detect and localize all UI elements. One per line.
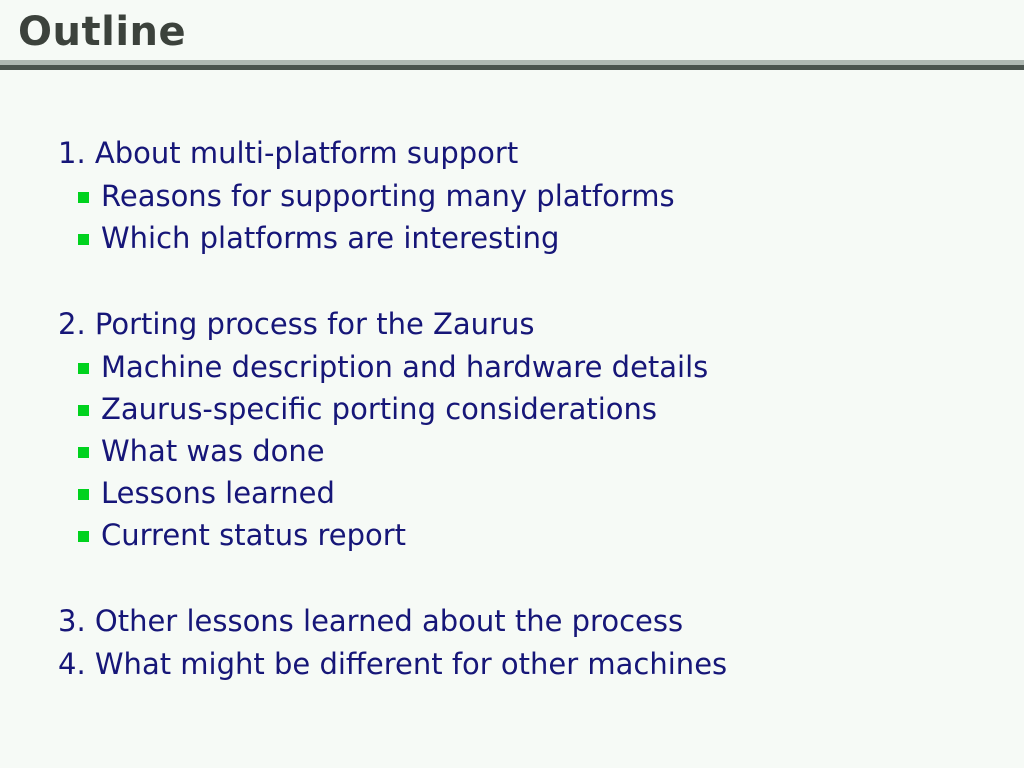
list-item-label: What was done — [101, 430, 325, 472]
outline-list: 1. About multi-platform support Reasons … — [56, 132, 956, 686]
header-rule-dark — [0, 65, 1024, 70]
green-square-bullet-icon — [78, 234, 89, 245]
section-spacer — [56, 259, 956, 303]
outline-section-2: 2. Porting process for the Zaurus Machin… — [56, 303, 956, 556]
outline-section-1: 1. About multi-platform support Reasons … — [56, 132, 956, 259]
slide-header: Outline — [0, 0, 1024, 72]
list-item: Reasons for supporting many platforms — [56, 175, 956, 217]
green-square-bullet-icon — [78, 192, 89, 203]
list-item-label: Machine description and hardware details — [101, 346, 708, 388]
list-item-label: Current status report — [101, 514, 406, 556]
section-spacer — [56, 556, 956, 600]
slide-body: 1. About multi-platform support Reasons … — [0, 72, 1024, 768]
outline-numbered-item: 4. What might be different for other mac… — [56, 643, 956, 686]
list-item-label: Which platforms are interesting — [101, 217, 559, 259]
list-item: Lessons learned — [56, 472, 956, 514]
green-square-bullet-icon — [78, 447, 89, 458]
outline-numbered-item: 1. About multi-platform support — [56, 132, 956, 175]
green-square-bullet-icon — [78, 489, 89, 500]
outline-numbered-item: 3. Other lessons learned about the proce… — [56, 600, 956, 643]
list-item: Zaurus-specific porting considerations — [56, 388, 956, 430]
outline-tail-items: 3. Other lessons learned about the proce… — [56, 600, 956, 686]
green-square-bullet-icon — [78, 405, 89, 416]
list-item: What was done — [56, 430, 956, 472]
slide: Outline 1. About multi-platform support … — [0, 0, 1024, 768]
list-item: Machine description and hardware details — [56, 346, 956, 388]
page-title: Outline — [18, 8, 186, 56]
list-item-label: Reasons for supporting many platforms — [101, 175, 675, 217]
list-item: Current status report — [56, 514, 956, 556]
green-square-bullet-icon — [78, 363, 89, 374]
outline-numbered-item: 2. Porting process for the Zaurus — [56, 303, 956, 346]
list-item-label: Zaurus-specific porting considerations — [101, 388, 657, 430]
green-square-bullet-icon — [78, 531, 89, 542]
list-item: Which platforms are interesting — [56, 217, 956, 259]
list-item-label: Lessons learned — [101, 472, 335, 514]
